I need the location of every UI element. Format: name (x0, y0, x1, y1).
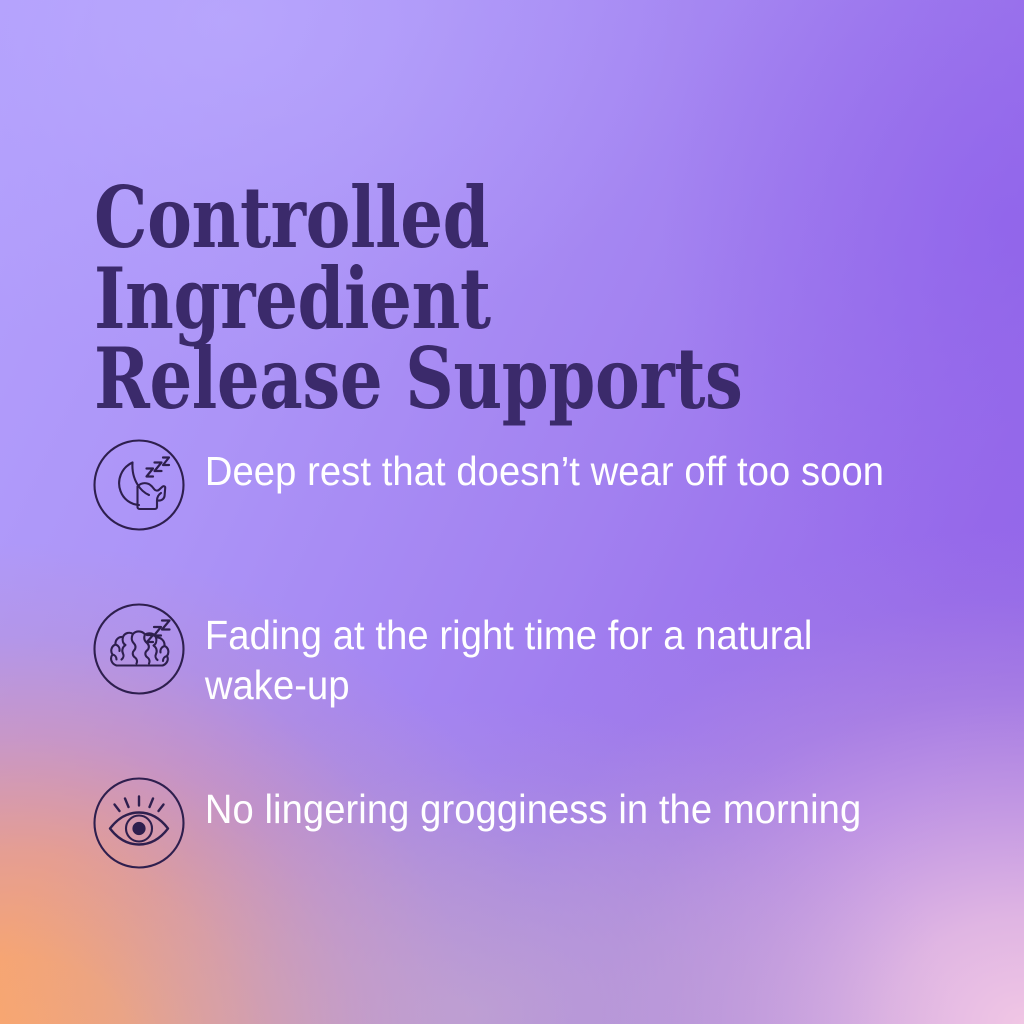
list-item: Deep rest that doesn’t wear off too soon (88, 432, 968, 536)
promo-card: Controlled Ingredient Release Supports (0, 0, 1024, 1024)
benefit-label: Deep rest that doesn’t wear off too soon (190, 432, 914, 496)
open-eye-icon (88, 772, 190, 874)
page-title: Controlled Ingredient Release Supports (94, 178, 766, 420)
list-item: No lingering grogginess in the morning (88, 770, 968, 874)
sleeping-brain-icon (88, 598, 190, 700)
benefit-label: Fading at the right time for a natural w… (190, 596, 914, 710)
list-item: Fading at the right time for a natural w… (88, 596, 968, 710)
sleeping-moon-cat-icon (88, 434, 190, 536)
benefit-list: Deep rest that doesn’t wear off too soon (88, 432, 968, 874)
benefit-label: No lingering grogginess in the morning (190, 770, 914, 834)
card-content: Controlled Ingredient Release Supports (0, 0, 1024, 1024)
